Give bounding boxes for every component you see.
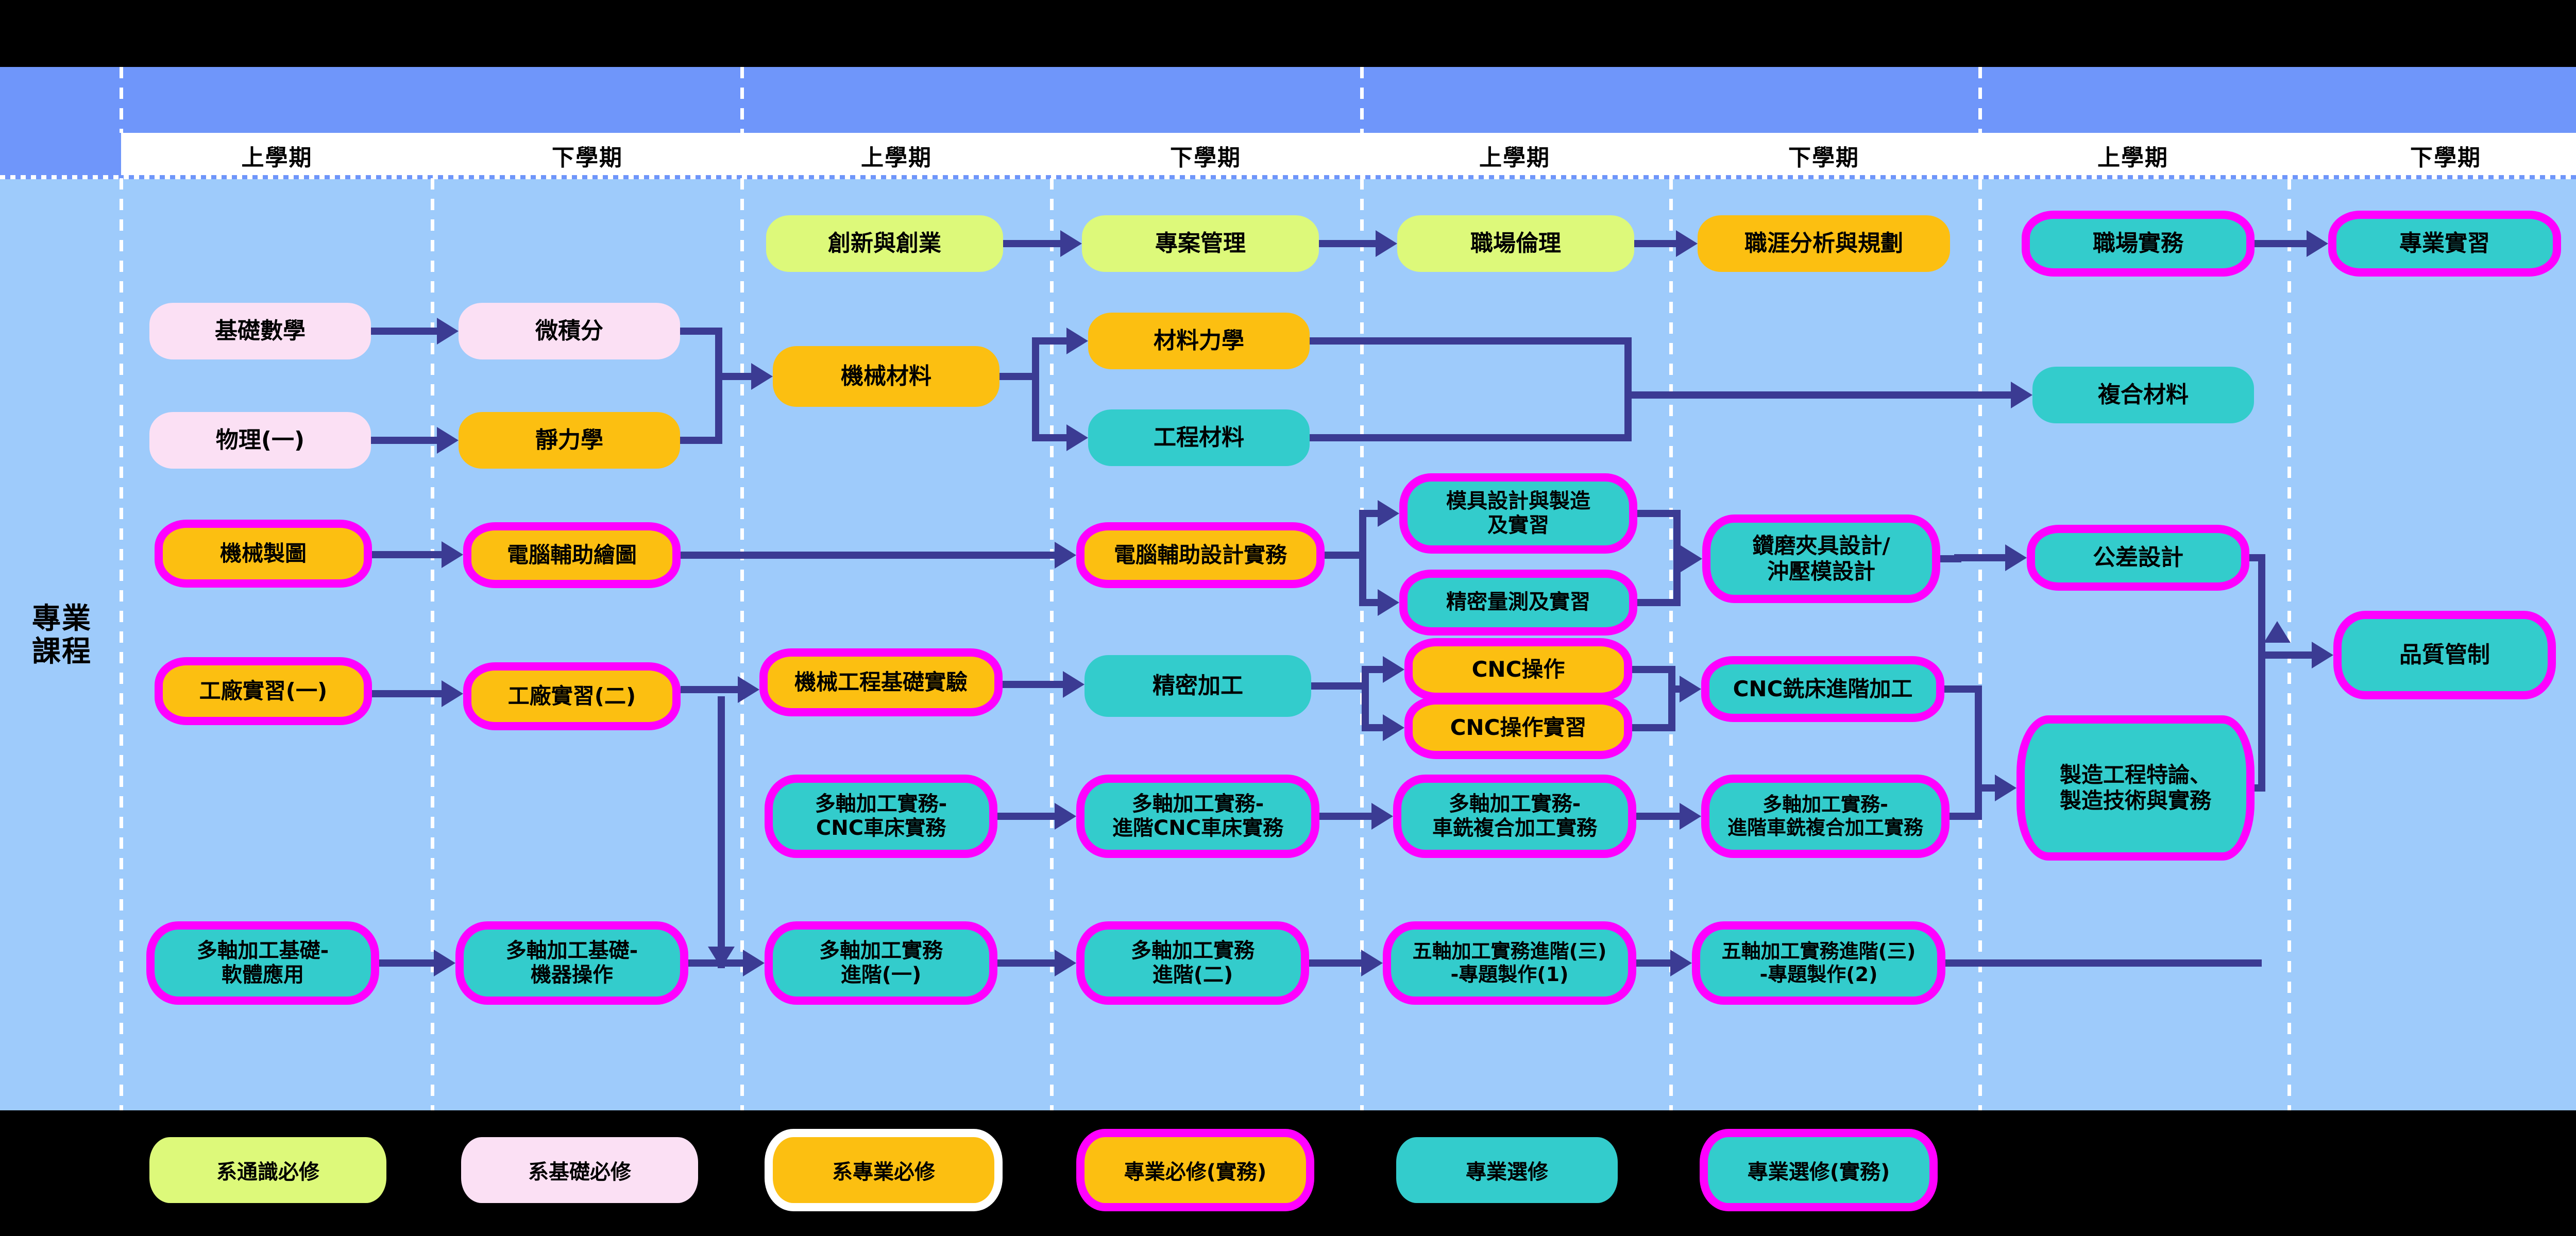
course-node[interactable]: 專案管理: [1082, 215, 1319, 272]
connector-segment: [1668, 666, 1675, 731]
course-node-label: 多軸加工基礎-軟體應用: [159, 939, 367, 987]
legend-item: 系專業必修: [773, 1137, 994, 1203]
legend-item-label: 專業必修(實務): [1124, 1155, 1267, 1185]
course-node-label: 五軸加工實務進階(三)-專題製作(1): [1395, 940, 1624, 986]
course-node-label: 靜力學: [463, 427, 676, 454]
connector-segment: [1362, 666, 1369, 731]
semester-band-left-filler: [0, 133, 121, 178]
connector-segment: [997, 959, 1055, 967]
course-node[interactable]: 模具設計與製造及實習: [1408, 482, 1629, 545]
course-node[interactable]: 精密量測及實習: [1408, 578, 1629, 627]
legend-item: 系基礎必修: [461, 1137, 698, 1203]
year-divider-1: [120, 67, 123, 133]
course-node[interactable]: 多軸加工實務進階(二): [1084, 930, 1301, 997]
course-node[interactable]: 公差設計: [2035, 533, 2241, 582]
course-node[interactable]: 工程材料: [1088, 409, 1310, 466]
course-node[interactable]: 材料力學: [1088, 313, 1310, 369]
course-node[interactable]: 職場倫理: [1397, 215, 1634, 272]
year-divider-3: [1360, 67, 1364, 133]
course-node[interactable]: 工廠實習(一): [163, 665, 364, 717]
connector-arrowhead: [1680, 803, 1701, 830]
connector-arrowhead: [1063, 671, 1084, 698]
course-node-label: 精密加工: [1089, 673, 1307, 699]
connector-arrowhead: [1676, 230, 1698, 257]
course-node-label: 多軸加工實務-車銑複合加工實務: [1405, 792, 1624, 840]
legend-item-label: 系專業必修: [832, 1155, 935, 1185]
connector-segment: [379, 959, 434, 967]
connector-segment: [719, 373, 751, 380]
course-node-label: 微積分: [463, 318, 676, 345]
course-node-label: 精密量測及實習: [1412, 590, 1625, 614]
connector-arrowhead: [2005, 544, 2027, 571]
course-node[interactable]: CNC銑床進階加工: [1709, 664, 1936, 714]
course-node-label: 物理(一): [154, 427, 367, 454]
connector-segment: [1637, 510, 1677, 517]
legend-item: 系通識必修: [149, 1137, 386, 1203]
connector-segment: [1950, 813, 1978, 820]
connector-arrowhead: [1681, 545, 1702, 572]
connector-segment: [1311, 682, 1365, 690]
connector-segment: [1944, 685, 1978, 693]
connector-segment: [1363, 599, 1378, 606]
course-node[interactable]: 多軸加工實務-車銑複合加工實務: [1401, 783, 1628, 850]
legend-item-label: 專業選修: [1466, 1155, 1548, 1185]
course-node[interactable]: 精密加工: [1084, 655, 1311, 717]
course-node-label: 多軸加工實務-進階CNC車床實務: [1089, 792, 1307, 840]
connector-segment: [1032, 337, 1039, 441]
course-node[interactable]: 複合材料: [2032, 367, 2254, 423]
course-node[interactable]: 機械材料: [773, 346, 999, 407]
row-group-label-line-2: 課程: [15, 636, 108, 668]
course-node-label: CNC操作: [1417, 657, 1620, 682]
course-node-label: 電腦輔助繪圖: [476, 542, 668, 568]
course-node[interactable]: 鑽磨夾具設計/沖壓模設計: [1710, 523, 1932, 595]
connector-segment: [1003, 681, 1063, 688]
connector-arrowhead: [1055, 542, 1076, 569]
connector-arrowhead: [1680, 676, 1701, 702]
connector-segment: [2255, 240, 2307, 247]
connector-arrowhead: [442, 680, 463, 707]
course-node-label: CNC銑床進階加工: [1714, 676, 1932, 702]
course-node[interactable]: CNC操作實習: [1413, 705, 1624, 751]
course-node[interactable]: 品質管制: [2342, 619, 2548, 691]
course-node-label: 工廠實習(一): [167, 678, 360, 704]
connector-segment: [1634, 240, 1676, 247]
column-divider-1: [120, 178, 123, 1110]
year-divider-2: [740, 67, 744, 133]
connector-segment: [1636, 813, 1680, 820]
course-node-label: 職涯分析與規劃: [1702, 230, 1946, 257]
connector-segment: [997, 813, 1055, 820]
connector-arrowhead: [437, 427, 459, 454]
connector-segment: [1624, 337, 1632, 441]
connector-segment: [2258, 554, 2265, 792]
course-node[interactable]: 微積分: [459, 303, 680, 359]
semester-header-5: 上學期: [1360, 133, 1669, 178]
course-node-label: 多軸加工實務-CNC車床實務: [777, 792, 985, 840]
connector-segment: [1319, 240, 1376, 247]
connector-arrowhead: [1376, 230, 1397, 257]
course-node-label: 工廠實習(二): [476, 683, 668, 709]
course-node[interactable]: 製造工程特論、製造技術與實務: [2025, 724, 2246, 852]
course-node-label: 複合材料: [2037, 382, 2250, 408]
course-node[interactable]: CNC操作: [1413, 646, 1624, 693]
connector-arrowhead: [1371, 803, 1393, 830]
connector-segment: [371, 328, 437, 335]
semester-header-4: 下學期: [1051, 133, 1360, 178]
legend-item: 專業選修: [1396, 1137, 1618, 1203]
course-node[interactable]: 多軸加工實務-進階車銑複合加工實務: [1709, 783, 1941, 850]
connector-arrowhead: [1378, 500, 1399, 527]
connector-segment: [718, 696, 725, 968]
connector-segment: [1632, 666, 1672, 673]
year-header-band: [0, 67, 2576, 133]
connector-segment: [681, 552, 1055, 559]
connector-arrowhead: [2307, 230, 2328, 257]
connector-arrowhead: [434, 950, 455, 976]
row-group-label-line-1: 專業: [15, 603, 108, 636]
course-node[interactable]: 多軸加工實務進階(一): [773, 930, 989, 997]
course-node[interactable]: 物理(一): [149, 412, 371, 469]
connector-arrowhead: [708, 947, 735, 968]
connector-segment: [680, 437, 719, 444]
connector-arrowhead: [2264, 621, 2291, 643]
course-node-label: 材料力學: [1092, 328, 1306, 354]
course-node[interactable]: 機械製圖: [163, 528, 364, 579]
connector-segment: [1325, 552, 1363, 559]
connector-arrowhead: [2312, 642, 2333, 668]
connector-segment: [1319, 813, 1371, 820]
course-node[interactable]: 基礎數學: [149, 303, 371, 359]
semester-header-6: 下學期: [1669, 133, 1978, 178]
course-node[interactable]: 職涯分析與規劃: [1698, 215, 1950, 272]
course-node[interactable]: 多軸加工基礎-機器操作: [464, 930, 680, 997]
course-node-label: 品質管制: [2346, 642, 2544, 668]
course-node-label: 模具設計與製造及實習: [1412, 489, 1625, 538]
course-node[interactable]: 電腦輔助設計實務: [1084, 530, 1316, 580]
connector-arrowhead: [1383, 714, 1404, 741]
legend-item: 專業選修(實務): [1708, 1137, 1929, 1203]
connector-segment: [372, 551, 442, 558]
legend-item-label: 系通識必修: [216, 1155, 319, 1185]
connector-segment: [1365, 724, 1383, 731]
connector-segment: [680, 328, 719, 335]
course-node[interactable]: 工廠實習(二): [471, 671, 672, 722]
connector-segment: [1958, 554, 2005, 561]
column-divider-7: [1978, 178, 1982, 1110]
course-node-label: 公差設計: [2039, 544, 2237, 571]
course-node-label: 專業實習: [2341, 230, 2549, 257]
connector-segment: [371, 437, 437, 444]
connector-arrowhead: [437, 318, 459, 345]
connector-arrowhead: [1060, 230, 1082, 257]
semester-header-1: 上學期: [121, 133, 433, 178]
course-node[interactable]: 專業實習: [2336, 219, 2553, 268]
connector-segment: [372, 690, 442, 697]
course-node-label: 製造工程特論、製造技術與實務: [2029, 762, 2242, 813]
course-node-label: 機械工程基礎實驗: [772, 669, 990, 695]
course-node-label: 基礎數學: [154, 318, 367, 345]
connector-arrowhead: [1361, 950, 1383, 976]
connector-arrowhead: [743, 950, 765, 976]
connector-arrowhead: [442, 541, 463, 568]
connector-segment: [1632, 724, 1672, 731]
connector-segment: [1036, 434, 1066, 441]
horizontal-divider: [0, 175, 2576, 179]
connector-segment: [1975, 685, 1982, 820]
course-node-label: 電腦輔助設計實務: [1089, 542, 1312, 568]
connector-segment: [1310, 434, 1628, 441]
connector-arrowhead: [1670, 950, 1692, 976]
course-node[interactable]: 五軸加工實務進階(三)-專題製作(2): [1700, 930, 1937, 997]
connector-segment: [1672, 685, 1680, 693]
legend-item-label: 專業選修(實務): [1748, 1155, 1890, 1185]
course-node-label: CNC操作實習: [1417, 715, 1620, 741]
course-node-label: 專案管理: [1086, 230, 1315, 257]
semester-header-8: 下學期: [2287, 133, 2576, 178]
connector-segment: [715, 328, 722, 444]
semester-header-3: 上學期: [742, 133, 1051, 178]
course-node[interactable]: 五軸加工實務進階(三)-專題製作(1): [1391, 930, 1628, 997]
course-node-label: 多軸加工實務-進階車銑複合加工實務: [1714, 793, 1937, 839]
year-header-3: 三年級: [744, 0, 1672, 66]
course-node-label: 多軸加工實務進階(一): [777, 939, 985, 987]
connector-segment: [1637, 599, 1677, 606]
connector-arrowhead: [1066, 328, 1088, 354]
connector-arrowhead: [2011, 382, 2032, 408]
connector-arrowhead: [1055, 950, 1076, 976]
course-node[interactable]: 機械工程基礎實驗: [768, 657, 994, 708]
course-node-label: 多軸加工基礎-機器操作: [468, 939, 676, 987]
connector-arrowhead: [1995, 775, 2016, 801]
connector-segment: [1363, 510, 1378, 517]
course-node-label: 職場倫理: [1401, 230, 1630, 257]
column-divider-4: [1050, 178, 1054, 1110]
course-node-label: 工程材料: [1092, 424, 1306, 451]
legend-item: 專業必修(實務): [1084, 1137, 1306, 1203]
connector-segment: [1945, 959, 2262, 967]
course-node[interactable]: 職場實務: [2030, 219, 2246, 268]
column-divider-8: [2287, 178, 2291, 1110]
year-divider-4: [1978, 67, 1982, 133]
connector-arrowhead: [1055, 803, 1076, 830]
connector-segment: [1636, 959, 1670, 967]
year-header-1: 一年級: [121, 0, 433, 66]
course-node[interactable]: 電腦輔助繪圖: [471, 530, 672, 580]
connector-segment: [1036, 337, 1066, 345]
connector-arrowhead: [738, 676, 759, 703]
course-node[interactable]: 創新與創業: [766, 215, 1003, 272]
connector-segment: [2262, 651, 2312, 659]
connector-segment: [999, 373, 1036, 380]
course-node-label: 鑽磨夾具設計/沖壓模設計: [1715, 533, 1928, 584]
year-header-2: 二年級: [433, 0, 744, 66]
course-node-label: 機械材料: [777, 363, 995, 390]
course-node[interactable]: 靜力學: [459, 412, 680, 469]
connector-segment: [1365, 666, 1383, 673]
connector-segment: [1310, 337, 1628, 345]
connector-segment: [1309, 959, 1361, 967]
curriculum-flowchart-canvas: 一年級 二年級 三年級 四年級 上學期 下學期 上學期 下學期 上學期 下學期 …: [0, 0, 2576, 1236]
connector-segment: [1003, 240, 1060, 247]
course-node-label: 機械製圖: [167, 541, 360, 566]
connector-arrowhead: [1066, 424, 1088, 451]
course-node-label: 多軸加工實務進階(二): [1089, 939, 1297, 987]
course-node-label: 職場實務: [2034, 230, 2242, 257]
course-node[interactable]: 多軸加工實務-進階CNC車床實務: [1084, 783, 1311, 850]
year-header-4: 四年級: [1672, 0, 2576, 66]
row-group-label: 專業 課程: [15, 603, 108, 669]
connector-arrowhead: [1378, 589, 1399, 616]
course-node[interactable]: 多軸加工實務-CNC車床實務: [773, 783, 989, 850]
course-node[interactable]: 多軸加工基礎-軟體應用: [155, 930, 371, 997]
connector-segment: [681, 686, 738, 693]
connector-segment: [1359, 510, 1366, 606]
semester-header-7: 上學期: [1978, 133, 2287, 178]
course-node-label: 五軸加工實務進階(三)-專題製作(2): [1704, 940, 1933, 986]
legend-item-label: 系基礎必修: [528, 1155, 631, 1185]
connector-segment: [1978, 784, 1995, 792]
connector-segment: [1628, 391, 2011, 399]
connector-arrowhead: [751, 363, 773, 390]
connector-arrowhead: [1383, 656, 1404, 683]
semester-header-2: 下學期: [433, 133, 742, 178]
legend-bar: 系通識必修系基礎必修系專業必修專業必修(實務)專業選修專業選修(實務): [0, 1110, 2576, 1236]
course-node-label: 創新與創業: [770, 230, 999, 257]
